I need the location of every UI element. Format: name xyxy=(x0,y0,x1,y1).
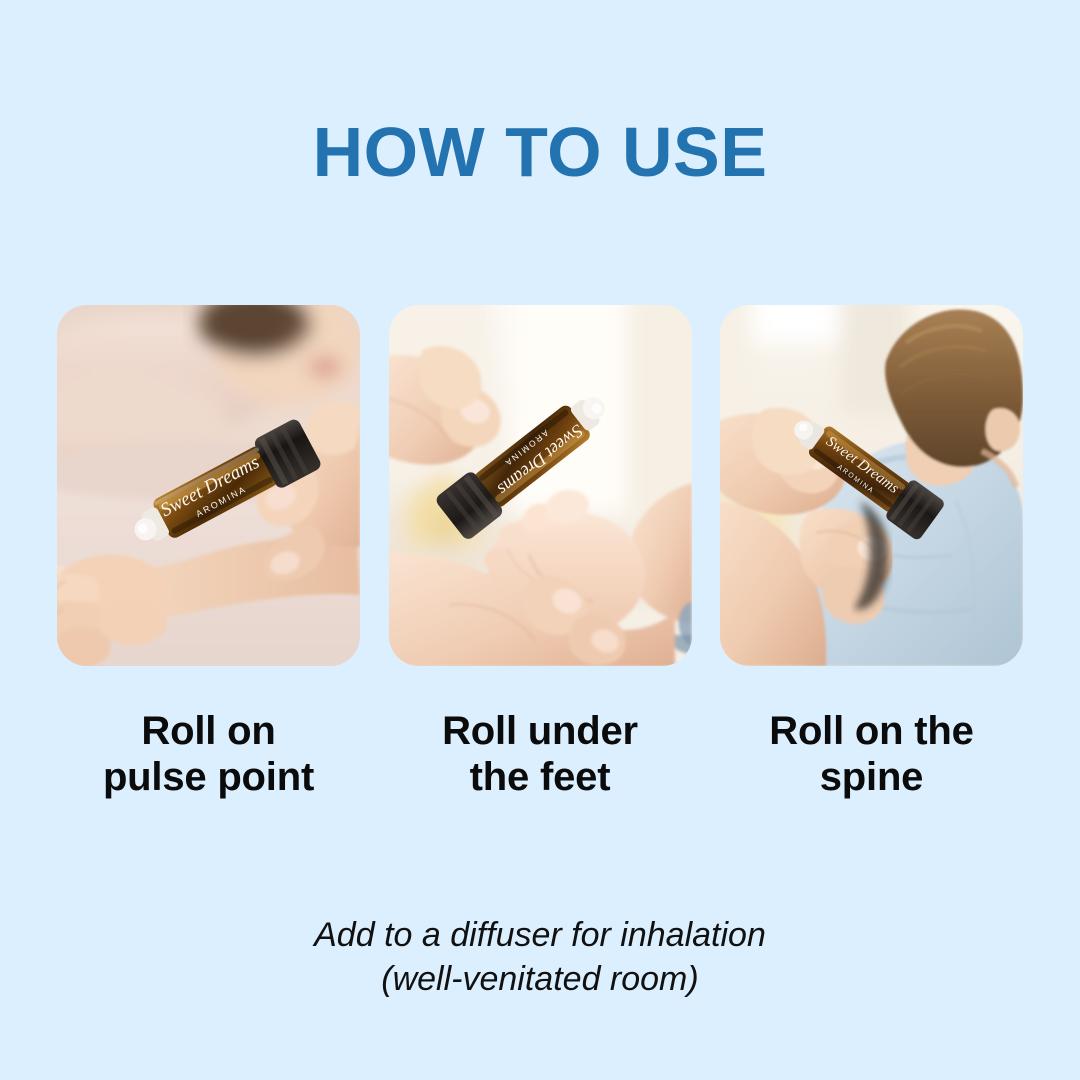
step-card-pulse-point[interactable]: Sweet Dreams AROMINA xyxy=(57,305,360,666)
steps-image-row: Sweet Dreams AROMINA xyxy=(57,305,1023,666)
caption-pulse-point: Roll on pulse point xyxy=(57,708,360,818)
caption-the-spine: Roll on the spine xyxy=(720,708,1023,818)
photo-roll-under-the-feet: Sweet Dreams AROMINA xyxy=(389,305,692,666)
diffuser-footnote: Add to a diffuser for inhalation (well-v… xyxy=(0,913,1080,1001)
poster-canvas: HOW TO USE xyxy=(0,0,1080,1080)
step-card-the-spine[interactable]: Sweet Dreams AROMINA xyxy=(720,305,1023,666)
step-card-under-the-feet[interactable]: Sweet Dreams AROMINA xyxy=(389,305,692,666)
diffuser-footnote-line2: (well-venitated room) xyxy=(0,957,1080,1001)
caption-under-the-feet: Roll under the feet xyxy=(389,708,692,818)
caption-the-spine-line1: Roll on the xyxy=(769,709,973,753)
diffuser-footnote-line1: Add to a diffuser for inhalation xyxy=(314,916,766,954)
caption-pulse-point-line1: Roll on xyxy=(141,709,275,753)
caption-under-the-feet-line1: Roll under xyxy=(442,709,638,753)
photo-roll-on-pulse-point: Sweet Dreams AROMINA xyxy=(57,305,360,666)
steps-caption-row: Roll on pulse point Roll under the feet … xyxy=(57,708,1023,818)
page-title: HOW TO USE xyxy=(0,115,1080,189)
photo-roll-on-the-spine: Sweet Dreams AROMINA xyxy=(720,305,1023,666)
caption-under-the-feet-line2: the feet xyxy=(389,754,692,800)
caption-pulse-point-line2: pulse point xyxy=(57,754,360,800)
caption-the-spine-line2: spine xyxy=(720,754,1023,800)
